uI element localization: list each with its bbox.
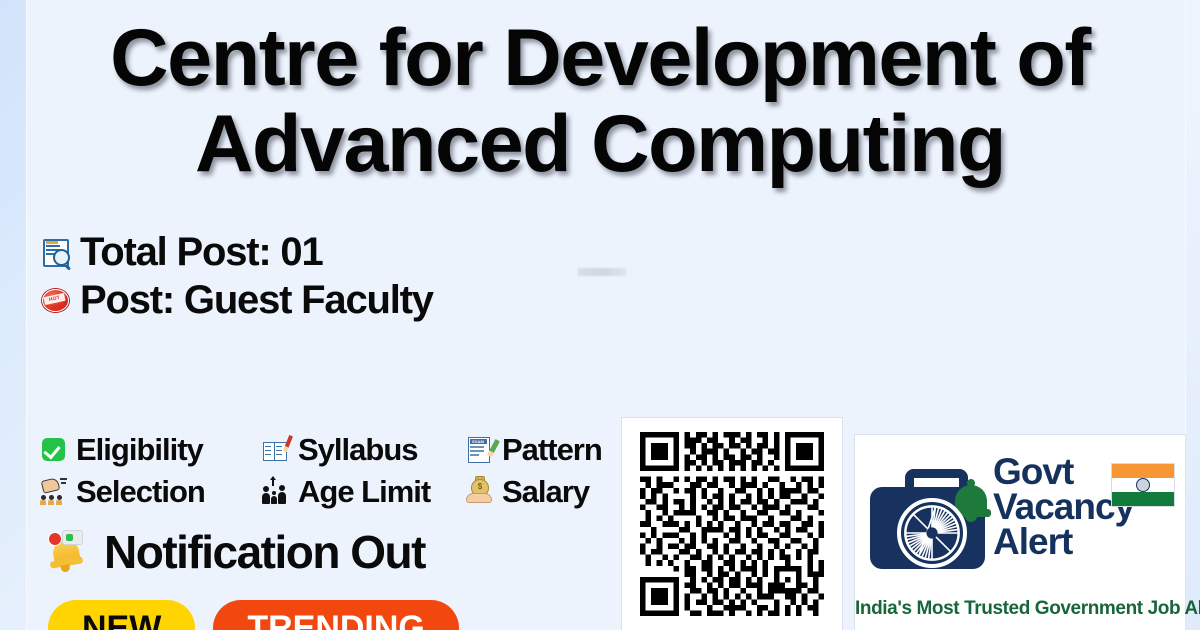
hand-selection-icon <box>40 476 67 506</box>
family-people-icon <box>262 476 289 506</box>
feature-syllabus[interactable]: Syllabus <box>262 434 466 465</box>
money-bag-hand-icon: $ <box>466 476 493 506</box>
status-badges: NEW TRENDING <box>48 600 459 630</box>
feature-pattern[interactable]: EXAM Pattern <box>466 434 602 465</box>
feature-label: Eligibility <box>76 434 203 465</box>
title-line-1: Centre for Development of <box>0 20 1200 98</box>
briefcase-chakra-bell-icon <box>870 465 988 575</box>
notification-text: Notification Out <box>104 529 425 575</box>
feature-selection[interactable]: Selection <box>40 476 262 507</box>
poster-canvas: Centre for Development of Advanced Compu… <box>0 0 1200 630</box>
total-post-text: Total Post: 01 <box>80 232 323 272</box>
feature-row-1: Eligibility Syllabus EXAM Pattern <box>40 428 660 470</box>
trending-badge[interactable]: TRENDING <box>213 600 459 630</box>
notification-block: Notification Out <box>48 528 425 576</box>
post-info-row: HOT JOB Post: Guest Faculty <box>40 278 433 322</box>
logo-top-row: Govt Vacancy Alert <box>865 457 1177 582</box>
wordmark-line-3: Alert <box>993 525 1134 560</box>
ashoka-chakra-icon <box>897 498 967 568</box>
feature-label: Salary <box>502 476 589 507</box>
brand-logo-card[interactable]: Govt Vacancy Alert India's Most Trusted … <box>855 435 1185 630</box>
open-book-pen-icon <box>262 434 289 464</box>
title-line-2: Advanced Computing <box>0 106 1200 184</box>
new-badge[interactable]: NEW <box>48 600 195 630</box>
post-name-text: Post: Guest Faculty <box>80 280 433 320</box>
india-flag-icon <box>1111 463 1175 507</box>
qr-code[interactable] <box>640 429 824 619</box>
page-title: Centre for Development of Advanced Compu… <box>0 20 1200 184</box>
post-info-row: Total Post: 01 <box>40 230 433 274</box>
feature-label: Age Limit <box>298 476 430 507</box>
hot-job-badge-icon: HOT JOB <box>40 285 70 315</box>
feature-label: Syllabus <box>298 434 418 465</box>
feature-label: Selection <box>76 476 205 507</box>
green-check-icon <box>40 434 67 464</box>
post-info-block: Total Post: 01 HOT JOB Post: Guest Facul… <box>40 230 433 326</box>
bell-alert-icon <box>48 528 90 576</box>
faint-watermark <box>578 268 626 276</box>
feature-grid: Eligibility Syllabus EXAM Pattern <box>40 428 660 512</box>
exam-paper-pencil-icon: EXAM <box>466 434 493 464</box>
feature-eligibility[interactable]: Eligibility <box>40 434 262 465</box>
feature-salary[interactable]: $ Salary <box>466 476 589 507</box>
brand-tagline: India's Most Trusted Government Job Aler… <box>855 598 1185 620</box>
feature-label: Pattern <box>502 434 602 465</box>
feature-row-2: Selection Age Limit $ Salary <box>40 470 660 512</box>
job-document-icon <box>40 237 70 267</box>
qr-code-card[interactable] <box>622 418 842 630</box>
feature-age-limit[interactable]: Age Limit <box>262 476 466 507</box>
